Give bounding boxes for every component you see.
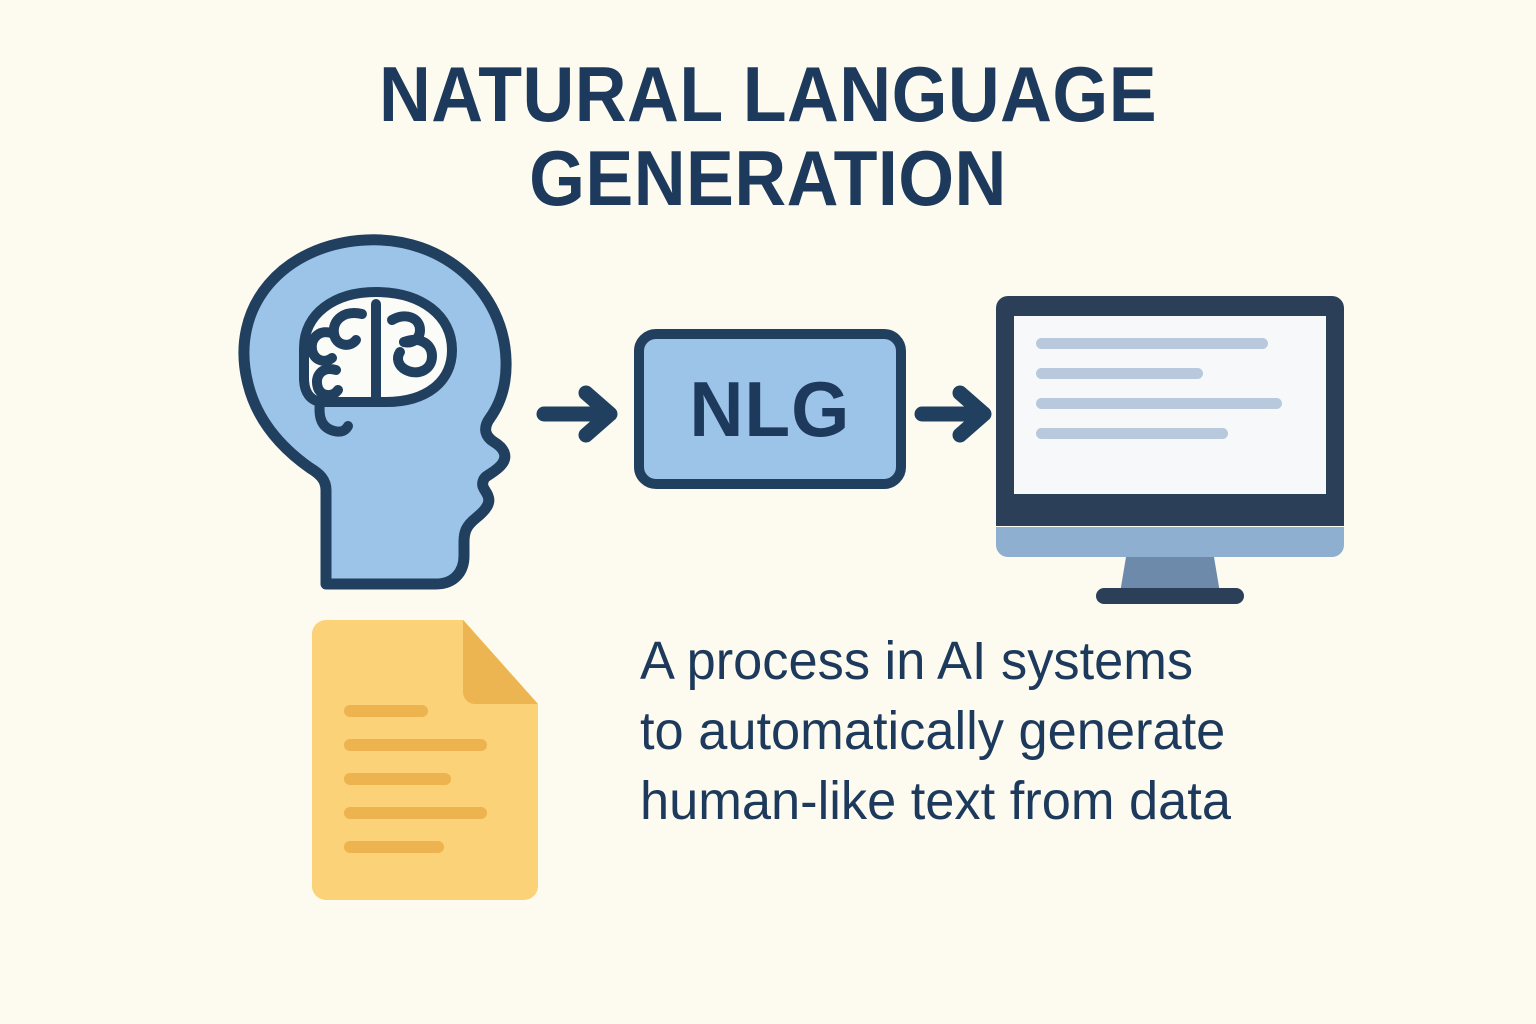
nlg-process-box[interactable]: NLG	[634, 329, 906, 489]
head-with-brain-icon	[214, 228, 544, 590]
screen-text-line	[1036, 338, 1268, 349]
page-title: NATURAL LANGUAGE GENERATION	[0, 52, 1536, 220]
document-text-line	[344, 705, 428, 717]
description-line-2: to automatically generate	[640, 696, 1319, 766]
description-line-1: A process in AI systems	[640, 626, 1319, 696]
monitor-chin	[996, 527, 1344, 557]
document-text-line	[344, 739, 487, 751]
monitor-base	[1096, 588, 1244, 604]
nlg-process-label: NLG	[690, 370, 851, 448]
description-line-3: human-like text from data	[640, 766, 1319, 836]
page-title-line-2: GENERATION	[61, 136, 1474, 220]
monitor-bezel	[996, 296, 1344, 526]
computer-monitor-icon	[996, 296, 1344, 608]
description-text: A process in AI systems to automatically…	[640, 626, 1340, 836]
document-text-line	[344, 841, 444, 853]
screen-text-line	[1036, 398, 1282, 409]
document-text-line	[344, 807, 487, 819]
screen-text-line	[1036, 368, 1203, 379]
arrow-right-icon	[534, 382, 630, 446]
document-text-line	[344, 773, 451, 785]
monitor-screen	[1014, 316, 1326, 494]
infographic-canvas: NATURAL LANGUAGE GENERATION	[0, 0, 1536, 1024]
document-page-icon	[312, 620, 538, 900]
arrow-right-icon	[912, 382, 1008, 446]
document-text-lines	[344, 705, 506, 875]
page-title-line-1: NATURAL LANGUAGE	[61, 52, 1474, 136]
screen-text-line	[1036, 428, 1228, 439]
